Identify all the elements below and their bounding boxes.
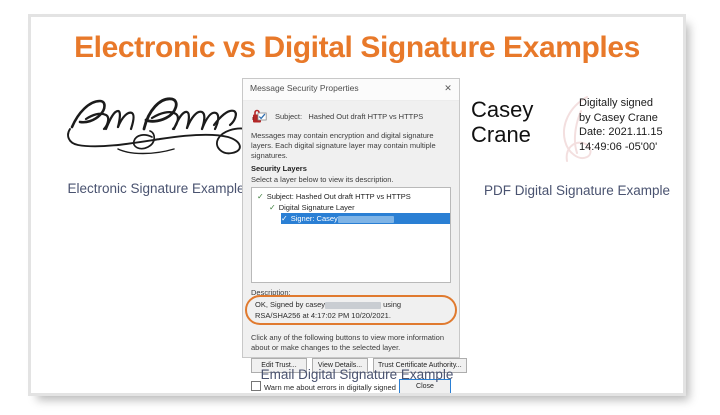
- description-area: OK, Signed by casey using RSA/SHA256 at …: [251, 298, 451, 324]
- subject-text: Subject: Hashed Out draft HTTP vs HTTPS: [275, 112, 423, 121]
- security-layers-list[interactable]: ✓Subject: Hashed Out draft HTTP vs HTTPS…: [251, 187, 451, 283]
- pdf-signature-details: Digitally signed by Casey Crane Date: 20…: [579, 96, 663, 154]
- pdf-signature-name: Casey Crane: [471, 97, 569, 147]
- security-layers-hint: Select a layer below to view its descrip…: [251, 175, 451, 184]
- subject-value: Hashed Out draft HTTP vs HTTPS: [308, 112, 423, 121]
- pdf-signature-detail-line3: Date: 2021.11.15: [579, 125, 663, 140]
- list-item[interactable]: ✓Subject: Hashed Out draft HTTP vs HTTPS: [255, 191, 447, 202]
- email-signature-caption: Email Digital Signature Example: [261, 367, 454, 382]
- pdf-signature-name-line1: Casey: [471, 97, 569, 122]
- check-icon: ✓: [269, 203, 276, 212]
- warn-errors-label: Warn me about errors in digitally signed…: [264, 383, 418, 392]
- pdf-signature-detail-line1: Digitally signed: [579, 96, 663, 111]
- check-icon: ✓: [281, 214, 288, 223]
- handwritten-signature-icon: [56, 89, 256, 163]
- electronic-signature-caption: Electronic Signature Example: [37, 181, 275, 196]
- list-item-selected[interactable]: ✓Signer: Casey: [255, 213, 447, 224]
- pdf-signature-caption: PDF Digital Signature Example: [469, 183, 683, 198]
- buttons-hint: Click any of the following buttons to vi…: [251, 333, 451, 353]
- description-prefix: OK, Signed by casey: [255, 300, 325, 309]
- subject-row: Subject: Hashed Out draft HTTP vs HTTPS: [251, 108, 451, 126]
- pdf-signature-detail-line4: 14:49:06 -05'00': [579, 140, 663, 155]
- dialog-title: Message Security Properties: [250, 83, 359, 93]
- description-text: OK, Signed by casey using RSA/SHA256 at …: [251, 298, 451, 321]
- email-signature-caption-wrap: Email Digital Signature Example: [31, 366, 683, 384]
- close-icon[interactable]: ✕: [442, 82, 454, 94]
- dialog-intro-paragraph: Messages may contain encryption and digi…: [251, 131, 451, 161]
- pdf-signature-detail-line2: by Casey Crane: [579, 111, 663, 126]
- selected-layer-highlight: ✓Signer: Casey: [281, 213, 451, 224]
- message-security-properties-dialog: Message Security Properties ✕ Subject: H…: [242, 78, 460, 358]
- check-icon: ✓: [257, 192, 264, 201]
- page-title: Electronic vs Digital Signature Examples: [31, 31, 683, 65]
- pdf-signature-card: Casey Crane Digitally signed by Casey Cr…: [471, 95, 683, 169]
- dialog-body: Subject: Hashed Out draft HTTP vs HTTPS …: [243, 101, 459, 357]
- lock-icon: [251, 108, 267, 124]
- list-item[interactable]: ✓Digital Signature Layer: [255, 202, 447, 213]
- layer-label: Digital Signature Layer: [279, 203, 355, 212]
- dialog-titlebar: Message Security Properties ✕: [243, 79, 459, 101]
- redaction-bar: [338, 216, 394, 223]
- pdf-signature-name-line2: Crane: [471, 122, 569, 147]
- subject-label: Subject:: [275, 112, 302, 121]
- layer-label: Signer: Casey: [291, 214, 338, 223]
- security-layers-heading: Security Layers: [251, 164, 451, 173]
- redaction-bar: [325, 302, 381, 309]
- electronic-signature-block: Electronic Signature Example: [37, 89, 275, 196]
- infographic-canvas: Electronic vs Digital Signature Examples…: [31, 17, 683, 393]
- pdf-signature-block: Casey Crane Digitally signed by Casey Cr…: [469, 95, 683, 198]
- screenshot-frame: Electronic vs Digital Signature Examples…: [28, 14, 686, 396]
- layer-label: Subject: Hashed Out draft HTTP vs HTTPS: [267, 192, 411, 201]
